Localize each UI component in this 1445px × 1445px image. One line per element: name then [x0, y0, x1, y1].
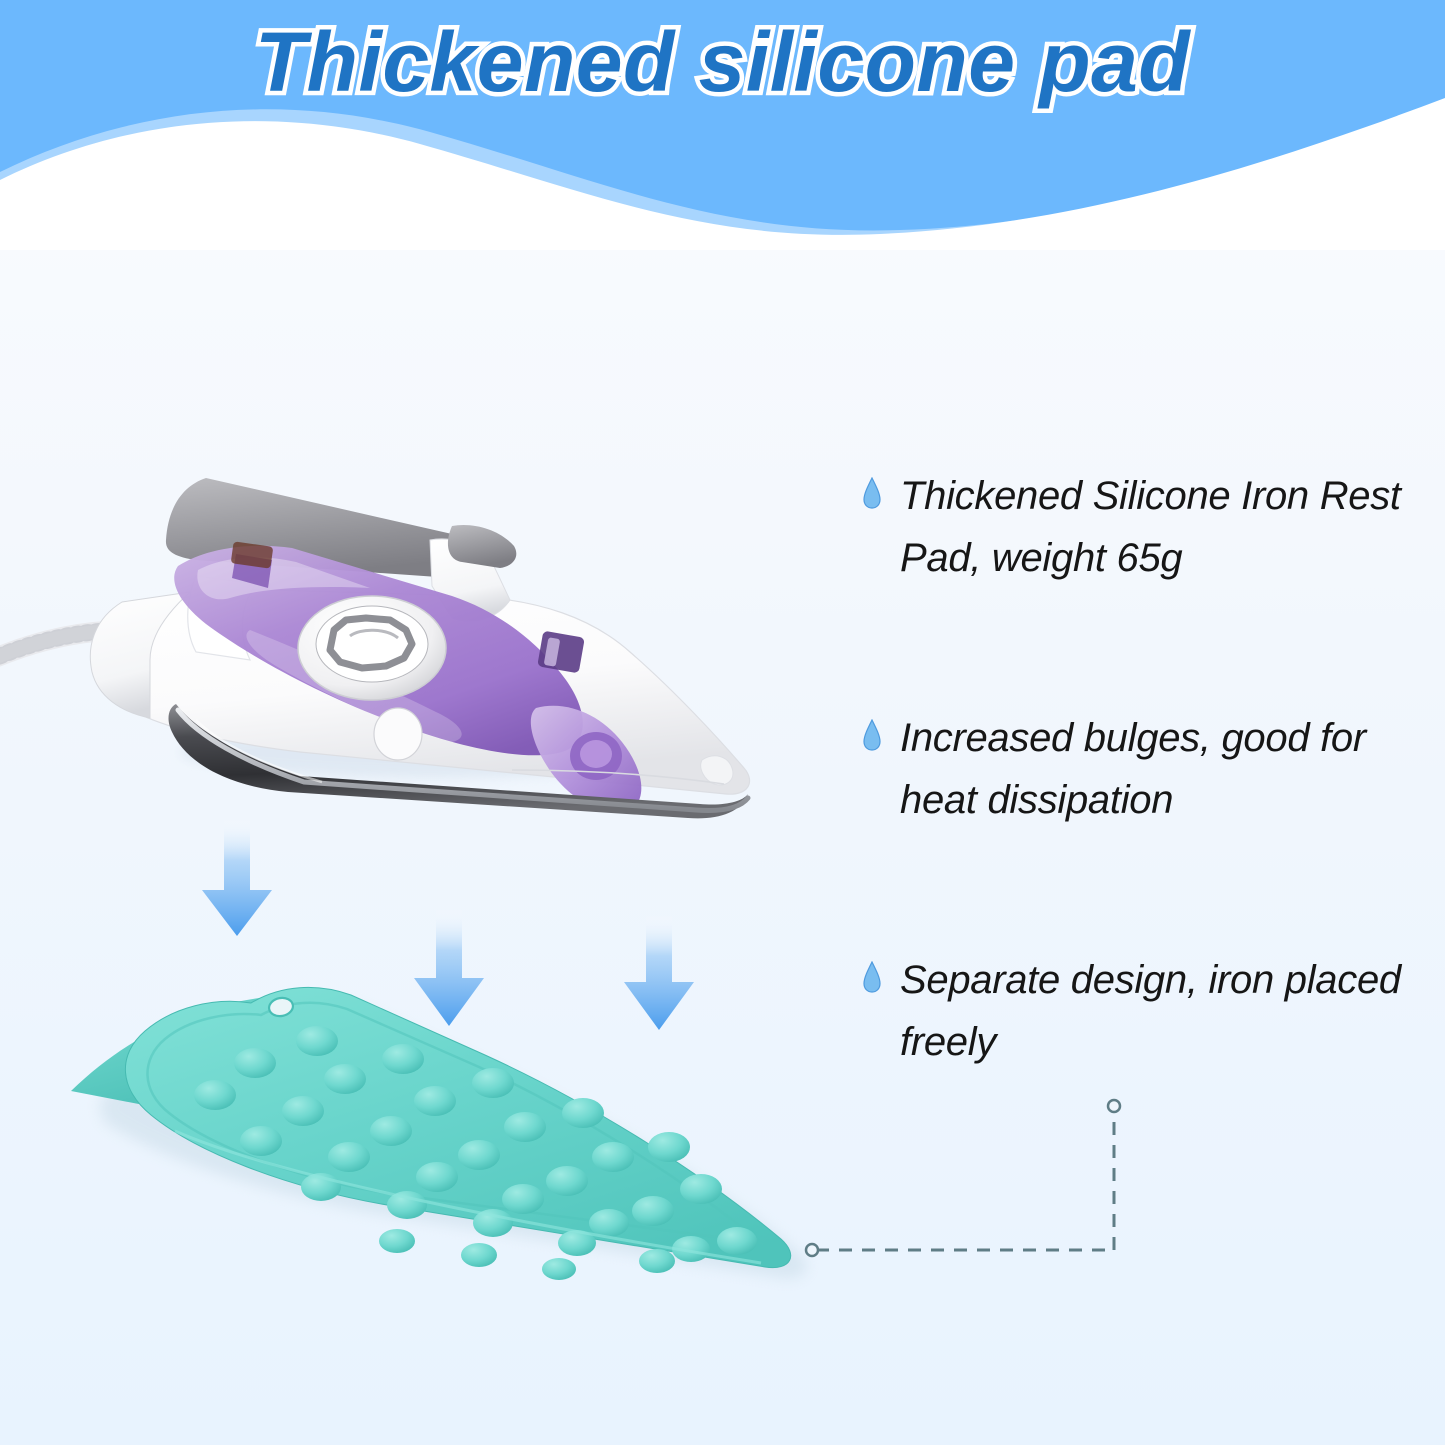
- callout-endpoint-top: [1108, 1100, 1120, 1112]
- header-banner: Thickened silicone pad: [0, 0, 1445, 250]
- droplet-icon: [862, 961, 882, 993]
- nozzle-inner: [580, 740, 612, 768]
- silicone-iron-rest-pad-illustration: [55, 955, 875, 1325]
- droplet-icon-shape: [862, 961, 882, 993]
- droplet-icon-shape: [862, 719, 882, 751]
- droplet-icon: [862, 719, 882, 751]
- page-title: Thickened silicone pad: [0, 14, 1445, 111]
- feature-list: Thickened Silicone Iron Rest Pad, weight…: [862, 465, 1432, 1073]
- feature-item-bulges: Increased bulges, good for heat dissipat…: [862, 707, 1432, 831]
- callout-dashed-lines: [780, 1070, 1180, 1310]
- measurement-callout: [780, 1070, 1180, 1310]
- droplet-icon-shape: [862, 477, 882, 509]
- droplet-icon: [862, 477, 882, 509]
- feature-item-separate: Separate design, iron placed freely: [862, 949, 1432, 1073]
- feature-text-bulges: Increased bulges, good for heat dissipat…: [900, 707, 1432, 831]
- silicone-pad-image: [55, 955, 875, 1325]
- spray-button[interactable]: [374, 708, 422, 760]
- callout-endpoint-left: [806, 1244, 818, 1256]
- feature-text-separate: Separate design, iron placed freely: [900, 949, 1432, 1073]
- steam-iron-illustration: [0, 300, 800, 900]
- down-arrow-1: [202, 820, 272, 936]
- steam-control-dial[interactable]: [298, 596, 446, 700]
- feature-text-weight: Thickened Silicone Iron Rest Pad, weight…: [900, 465, 1432, 589]
- iron-product-image: [0, 300, 800, 900]
- feature-item-weight: Thickened Silicone Iron Rest Pad, weight…: [862, 465, 1432, 589]
- steam-burst-switch[interactable]: [537, 631, 585, 674]
